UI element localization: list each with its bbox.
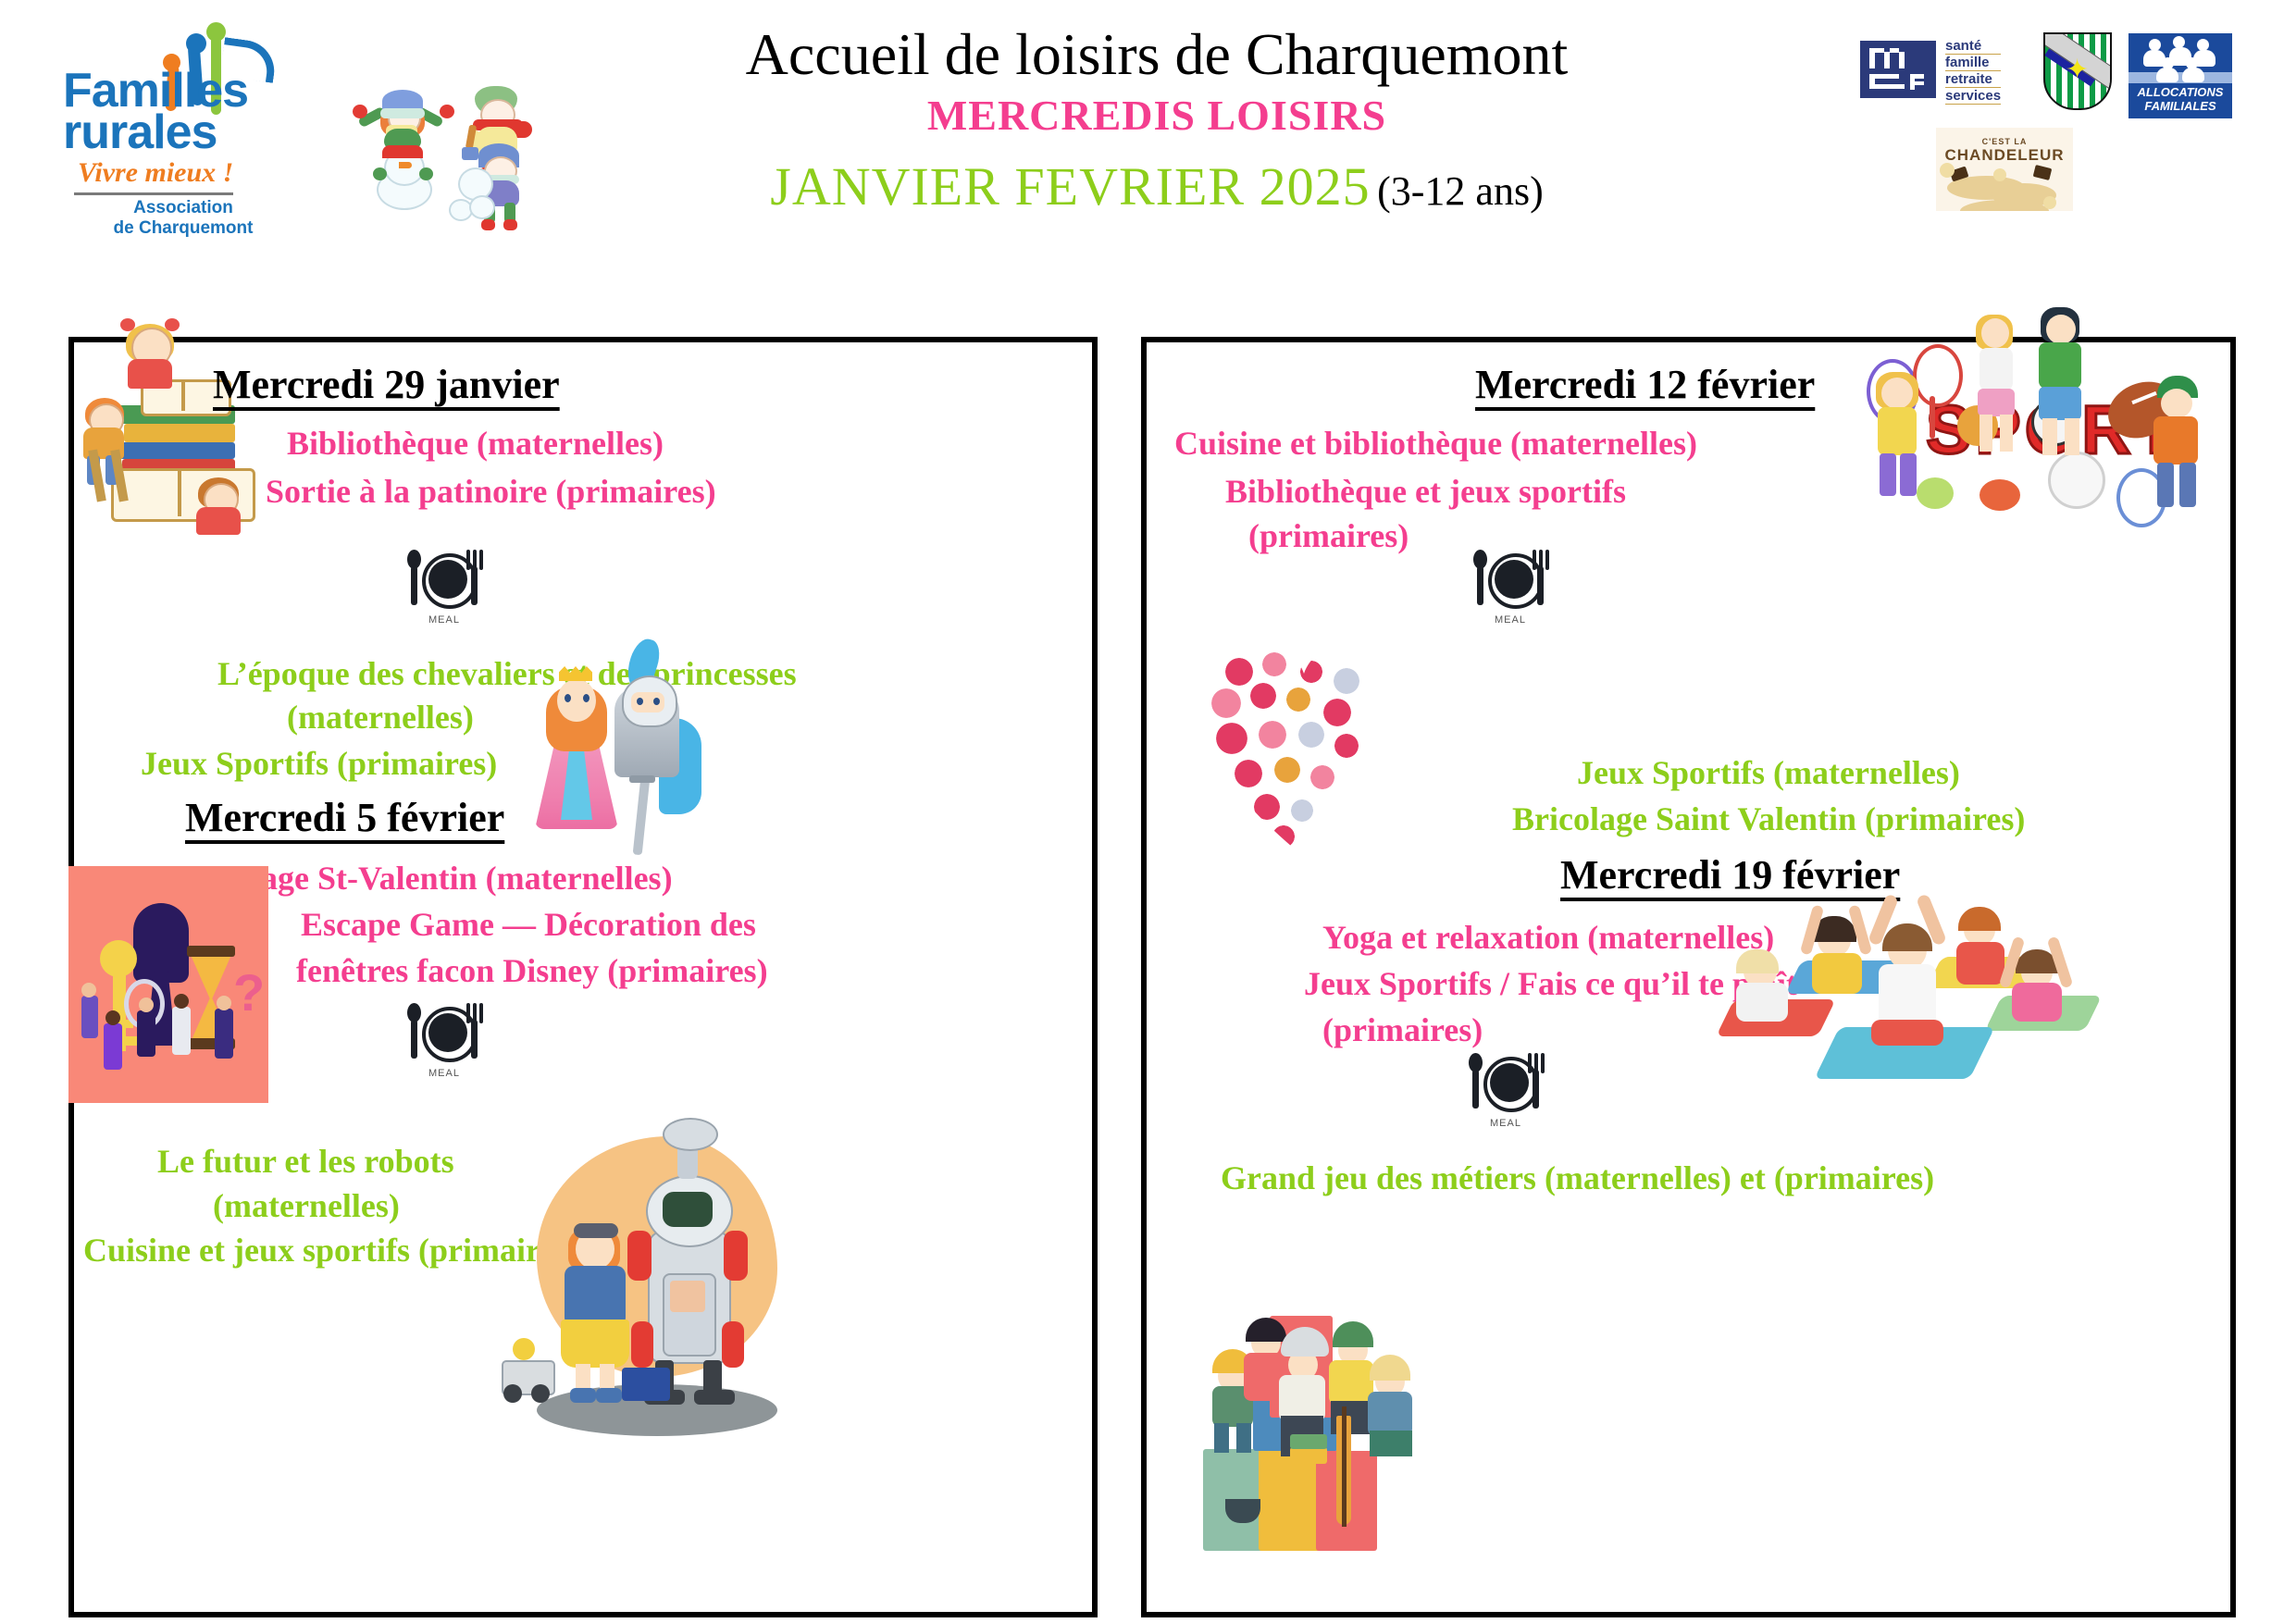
logo-figure-blue-head — [186, 33, 206, 54]
activity-line: Yoga et relaxation (maternelles) — [1322, 916, 1774, 960]
activity-line: (maternelles) — [287, 696, 474, 739]
caf-text: ALLOCATIONS FAMILIALES — [2128, 85, 2232, 113]
logo-association-line1: Association — [100, 198, 267, 218]
meal-icon-label: MEAL — [1461, 1118, 1550, 1129]
panel-left: Mercredi 29 janvier Bibliothèque (matern… — [68, 337, 1098, 1617]
logo-divider — [74, 192, 233, 195]
activity-line: Jeux Sportifs (primaires) — [141, 742, 497, 786]
period-and-ages: JANVIER FEVRIER 2025 (3-12 ans) — [555, 155, 1758, 217]
girl-skirt — [561, 1319, 629, 1368]
snowman — [371, 147, 436, 204]
day-title-12-fevrier: Mercredi 12 février — [1475, 361, 1815, 408]
activity-line: (maternelles) — [213, 1184, 400, 1228]
princess-crown — [559, 666, 592, 681]
meal-icon: MEAL — [400, 548, 489, 650]
logo-text-line2: rurales — [63, 109, 217, 155]
activity-line: Bibliothèque (maternelles) — [287, 422, 664, 465]
meal-icon: MEAL — [1461, 1051, 1550, 1153]
allocations-familiales-logo: ALLOCATIONS FAMILIALES — [2128, 33, 2232, 118]
msa-tagline: santé famille retraite services — [1945, 38, 2001, 105]
activity-line: Sortie à la patinoire (primaires) — [266, 470, 716, 514]
escape-game-illustration: ? — [68, 866, 268, 1103]
activity-line: Bricolage Saint Valentin (primaires) — [1512, 798, 2025, 841]
period-label: JANVIER FEVRIER 2025 — [770, 156, 1370, 217]
day-title-5-fevrier: Mercredi 5 février — [185, 794, 504, 841]
page-header: Familles rurales Vivre mieux ! Associati… — [0, 0, 2296, 333]
logo-association-name: Association de Charquemont — [100, 198, 267, 239]
activity-line: Le futur et les robots — [157, 1140, 454, 1183]
meal-icon: MEAL — [1466, 548, 1555, 650]
activity-line: Grand jeu des métiers (maternelles) et (… — [1221, 1157, 1934, 1200]
chandeleur-image: C'EST LA CHANDELEUR — [1936, 128, 2073, 211]
panel-right: Mercredi 12 février Cuisine et bibliothè… — [1141, 337, 2236, 1617]
valentine-heart-icons-illustration — [1202, 638, 1406, 861]
ages-label: (3-12 ans) — [1377, 168, 1544, 214]
activity-line: (primaires) — [1248, 514, 1409, 558]
logo-figure-green-head — [206, 22, 226, 42]
charquemont-coat-of-arms: ✦ — [2043, 32, 2108, 112]
msa-line-3: retraite — [1945, 71, 2001, 88]
meal-icon-label: MEAL — [400, 1068, 489, 1079]
logo-tagline: Vivre mieux ! — [78, 157, 233, 189]
msa-logo: santé famille retraite services — [1860, 41, 2022, 98]
activity-line: (primaires) — [1322, 1009, 1483, 1052]
msa-line-4: services — [1945, 88, 2001, 105]
day-title-29-janvier: Mercredi 29 janvier — [213, 361, 560, 408]
activity-line: Jeux Sportifs (maternelles) — [1577, 751, 1960, 795]
star-icon: ✦ — [2066, 58, 2090, 82]
msa-mark-icon — [1860, 41, 1936, 98]
logo-association-line2: de Charquemont — [100, 218, 267, 239]
logo-band — [2128, 72, 2232, 83]
msa-line-1: santé — [1945, 38, 2001, 55]
activity-line: Bibliothèque et jeux sportifs — [1225, 470, 1626, 514]
girl-and-robot-illustration — [472, 1110, 842, 1481]
caf-line1: ALLOCATIONS — [2128, 85, 2232, 99]
meal-icon-label: MEAL — [400, 614, 489, 626]
msa-line-2: famille — [1945, 55, 2001, 71]
winter-children-snow-illustration — [356, 79, 560, 204]
page-title: Accueil de loisirs de Charquemont — [555, 20, 1758, 89]
sport-kids-illustration: SPORT — [1859, 287, 2229, 527]
meal-icon-label: MEAL — [1466, 614, 1555, 626]
kids-yoga-illustration — [1716, 879, 2104, 1092]
partner-logos: santé famille retraite services ✦ — [1860, 28, 2277, 199]
chandeleur-line1: C'EST LA — [1936, 137, 2073, 146]
subtitle: MERCREDIS LOISIRS — [555, 91, 1758, 140]
meal-icon: MEAL — [400, 1001, 489, 1103]
familles-rurales-logo: Familles rurales Vivre mieux ! Associati… — [56, 17, 268, 202]
snowball-small-2 — [469, 195, 495, 219]
activity-line: Cuisine et bibliothèque (maternelles) — [1174, 422, 1697, 465]
activity-line: Escape Game — Décoration des — [301, 903, 756, 947]
caf-line2: FAMILIALES — [2128, 99, 2232, 113]
chandeleur-line2: CHANDELEUR — [1936, 146, 2073, 165]
girl-jacket — [565, 1266, 626, 1327]
kid-holding-snowball — [456, 143, 534, 208]
kids-professions-illustration — [1198, 1231, 1521, 1555]
activity-line: fenêtres facon Disney (primaires) — [296, 949, 768, 993]
